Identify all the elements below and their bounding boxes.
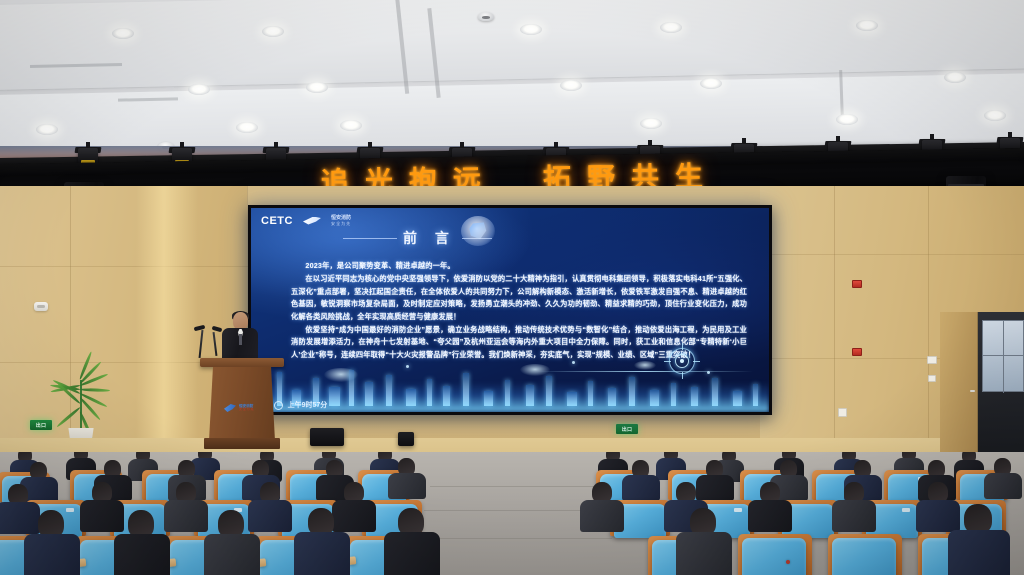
podium-logo-line2: 安 全 为 先 xyxy=(239,408,254,411)
speaker-podium: 恒安消防 安 全 为 先 xyxy=(204,358,280,450)
downlight-icon xyxy=(944,72,966,83)
downlight-icon xyxy=(640,118,662,129)
slide-paragraph: 在以习近平同志为核心的党中央坚强领导下，依爱消防以党的二十大精神为指引，认真贯彻… xyxy=(291,273,747,323)
exit-sign-icon[interactable]: 出口 xyxy=(616,424,638,434)
auditorium-scene: 追光抱远拓野共生 出口 出口 CETC xyxy=(0,0,1024,575)
potted-plant-icon xyxy=(44,358,120,450)
skyline-beam xyxy=(536,371,754,372)
stage-monitor-speaker xyxy=(310,428,344,446)
downlight-icon xyxy=(236,122,258,133)
podium-logo-mark-icon xyxy=(224,404,236,412)
downlight-icon xyxy=(856,20,878,31)
title-rule-left xyxy=(343,238,397,239)
stage-monitor-speaker xyxy=(398,432,414,446)
led-presentation-screen: CETC 恒安消防 安 全 为 先 前 言 2023年，是公司聚势变革、精进卓越… xyxy=(248,205,772,415)
downlight-icon xyxy=(560,80,582,91)
slide-body-text: 2023年，是公司聚势变革、精进卓越的一年。 在以习近平同志为核心的党中央坚强领… xyxy=(291,260,747,362)
podium-logo: 恒安消防 安 全 为 先 xyxy=(224,402,260,414)
slide-emblem-icon xyxy=(461,216,495,246)
skyline-haze xyxy=(251,382,769,412)
seat[interactable] xyxy=(832,538,896,575)
downlight-icon xyxy=(700,78,722,89)
podium-top xyxy=(200,358,284,367)
downlight-icon xyxy=(306,82,328,93)
downlight-icon xyxy=(340,120,362,131)
wall-plate-icon[interactable] xyxy=(838,408,847,417)
downlight-icon xyxy=(836,114,858,125)
smoke-detector-icon xyxy=(478,12,494,21)
downlight-icon xyxy=(188,84,210,95)
downlight-icon xyxy=(36,124,58,135)
fire-alarm-box-icon[interactable] xyxy=(852,280,862,288)
downlight-icon xyxy=(520,24,542,35)
radar-icon xyxy=(669,348,695,374)
presentation-slide: CETC 恒安消防 安 全 为 先 前 言 2023年，是公司聚势变革、精进卓越… xyxy=(251,208,769,412)
fire-alarm-box-icon[interactable] xyxy=(852,348,862,356)
slide-paragraph: 2023年，是公司聚势变革、精进卓越的一年。 xyxy=(291,260,747,272)
exit-sign-label: 出口 xyxy=(622,426,633,433)
slide-title: 前 言 xyxy=(403,228,456,248)
rocket-icon xyxy=(301,216,323,227)
podium-base xyxy=(204,438,280,449)
corridor-window xyxy=(982,320,1024,392)
slide-brand-header: CETC 恒安消防 安 全 为 先 xyxy=(261,215,351,227)
downlight-icon xyxy=(660,22,682,33)
door-handle-icon[interactable] xyxy=(970,390,975,392)
downlight-icon xyxy=(112,28,134,39)
wall-plate-icon[interactable] xyxy=(928,375,936,382)
sub-logo-line2: 安 全 为 先 xyxy=(331,222,351,226)
cetc-logo: CETC xyxy=(261,215,293,227)
presenter-tie xyxy=(239,334,242,345)
downlight-icon xyxy=(262,26,284,37)
wall-plate-icon[interactable] xyxy=(927,356,937,364)
company-sub-logo: 恒安消防 安 全 为 先 xyxy=(331,216,351,225)
slide-clock: 上午9时57分 xyxy=(288,400,328,410)
downlight-icon xyxy=(984,110,1006,121)
wall-sensor-icon xyxy=(34,302,48,311)
audience-seating-area xyxy=(0,452,1024,575)
seat[interactable] xyxy=(742,538,806,575)
